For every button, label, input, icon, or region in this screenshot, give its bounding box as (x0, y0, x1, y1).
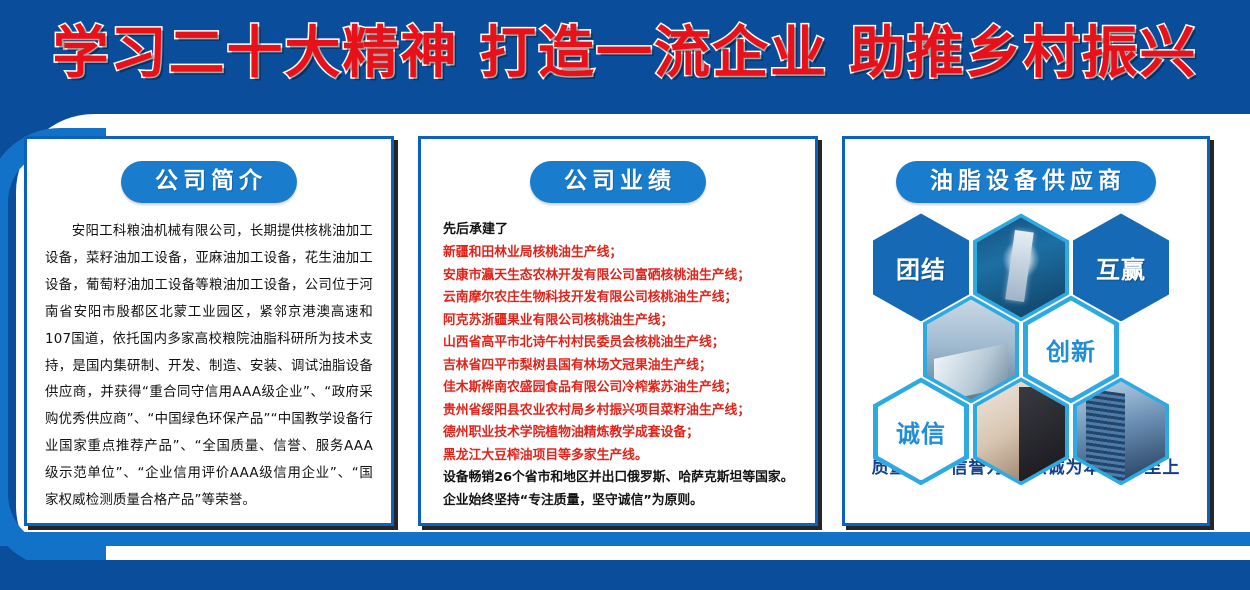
header-title: 学习二十大精神 打造一流企业 助推乡村振兴 (53, 26, 1198, 82)
hexagon-label: 团结 (896, 250, 946, 285)
performance-project-item: 德州职业技术学院植物油精炼教学成套设备； (443, 422, 815, 445)
performance-title-wrap: 公司业绩 (421, 139, 815, 203)
performance-footnote: 企业始终坚持“专注质量，坚守诚信”为原则。 (443, 490, 815, 513)
performance-title-pill: 公司业绩 (530, 161, 706, 203)
supplier-title-wrap: 油脂设备供应商 (845, 139, 1207, 203)
profile-title-pill: 公司简介 (121, 161, 297, 203)
performance-project-item: 安康市瀛天生态农林开发有限公司富硒核桃油生产线； (443, 265, 815, 288)
performance-project-list: 新疆和田林业局核桃油生产线；安康市瀛天生态农林开发有限公司富硒核桃油生产线；云南… (421, 242, 815, 467)
panel-oil-equipment-supplier: 油脂设备供应商 团结互赢创新诚信 质量为先 信誉为重 以诚为本 用户至上 (842, 136, 1210, 526)
profile-title-wrap: 公司简介 (27, 139, 391, 203)
performance-project-item: 贵州省绥阳县农业农村局乡村振兴项目菜籽油生产线； (443, 400, 815, 423)
performance-project-item: 阿克苏浙疆果业有限公司核桃油生产线； (443, 310, 815, 333)
performance-project-item: 新疆和田林业局核桃油生产线； (443, 242, 815, 265)
aircraft-carrier-photo (977, 217, 1065, 317)
performance-project-item: 山西省高平市北诗午村村民委员会核桃油生产线； (443, 332, 815, 355)
header-banner: 学习二十大精神 打造一流企业 助推乡村振兴 (0, 0, 1250, 108)
hexagon-label: 诚信 (896, 414, 946, 449)
performance-project-item: 佳木斯桦南农盛园食品有限公司冷榨紫苏油生产线； (443, 377, 815, 400)
success-mountain-photo (927, 299, 1015, 399)
performance-footnotes: 设备畅销26个省市和地区并出口俄罗斯、哈萨克斯坦等国家。企业始终坚持“专注质量，… (421, 467, 815, 512)
profile-body-text: 安阳工科粮油机械有限公司，长期提供核桃油加工设备，菜籽油加工设备，亚麻油加工设备… (45, 219, 373, 514)
supplier-title-pill: 油脂设备供应商 (896, 161, 1156, 203)
panels-row: 公司简介 安阳工科粮油机械有限公司，长期提供核桃油加工设备，菜籽油加工设备，亚麻… (0, 108, 1250, 590)
performance-project-item: 吉林省四平市梨树县国有林场文冠果油生产线； (443, 355, 815, 378)
panel-company-performance: 公司业绩 先后承建了 新疆和田林业局核桃油生产线；安康市瀛天生态农林开发有限公司… (418, 136, 818, 526)
performance-project-item: 黑龙江大豆榨油项目等多家生产线。 (443, 445, 815, 468)
performance-footnote: 设备畅销26个省市和地区并出口俄罗斯、哈萨克斯坦等国家。 (443, 467, 815, 490)
hexagon-cluster: 团结互赢创新诚信 (861, 209, 1191, 439)
performance-intro: 先后承建了 (443, 219, 815, 242)
promotional-board: 学习二十大精神 打造一流企业 助推乡村振兴 公司简介 安阳工科粮油机械有限公司，… (0, 0, 1250, 590)
performance-project-item: 云南摩尔农庄生物科技开发有限公司核桃油生产线； (443, 287, 815, 310)
hexagon-label: 创新 (1046, 332, 1096, 367)
panel-company-profile: 公司简介 安阳工科粮油机械有限公司，长期提供核桃油加工设备，菜籽油加工设备，亚麻… (24, 136, 394, 526)
bottom-accent-stripe (0, 532, 1250, 546)
bottom-blue-band (0, 560, 1250, 590)
hexagon-label: 互赢 (1096, 250, 1146, 285)
skyscraper-photo (1077, 381, 1165, 481)
handshake-photo (977, 381, 1065, 481)
